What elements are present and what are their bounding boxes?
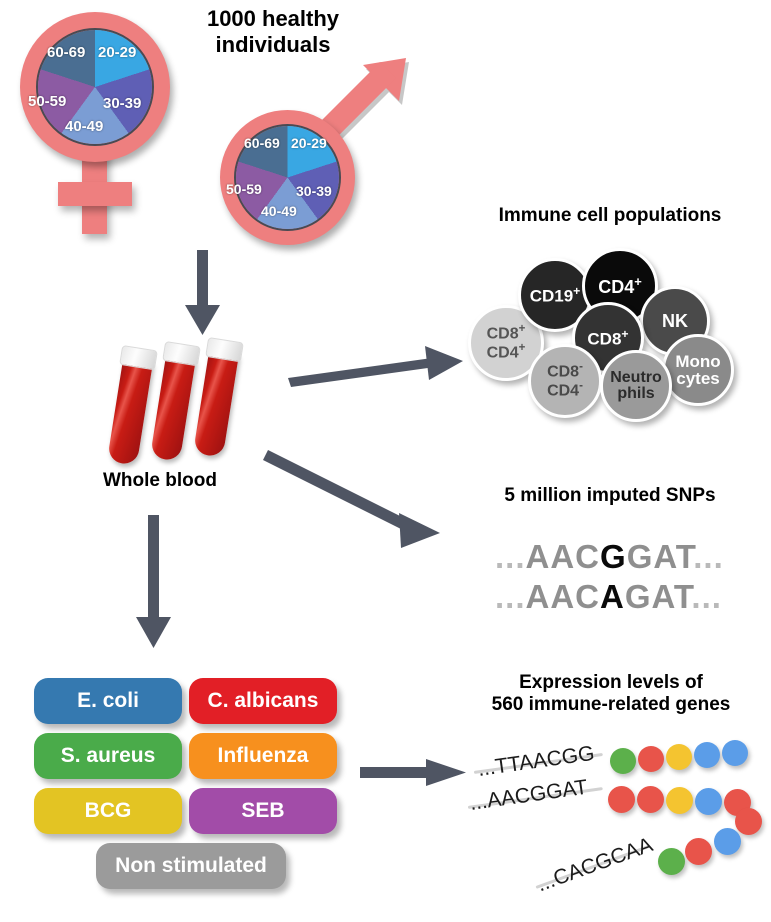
snp-right: GAT — [625, 578, 692, 615]
strand-bead — [666, 787, 693, 814]
pie-label-30-39: 30-39 — [296, 183, 332, 199]
stimulus-label: BCG — [85, 799, 132, 823]
strand-bead — [610, 748, 636, 774]
expression-title: Expression levels of 560 immune-related … — [455, 672, 767, 717]
stimulus-c-albicans[interactable]: C. albicans — [189, 678, 337, 724]
snp-left: AAC — [526, 578, 601, 615]
stimulus-label: S. aureus — [61, 744, 156, 768]
snp-right: GAT — [627, 538, 694, 575]
arrow-blood-to-stimuli — [130, 515, 180, 655]
cell-label: CD4+ — [598, 275, 642, 296]
stimulus-s-aureus[interactable]: S. aureus — [34, 733, 182, 779]
snp-variant: A — [600, 578, 625, 615]
cell-label: CD8+ CD4+ — [487, 324, 526, 361]
cell-label: NK — [662, 312, 688, 330]
snp-allele-row: ...AACAGAT... — [495, 578, 722, 616]
expression-title-line1: Expression levels of — [455, 672, 767, 694]
strand-sequence: ...AACGGAT — [468, 776, 589, 816]
blood-tube — [150, 353, 196, 461]
female-symbol-stem-cross — [58, 182, 132, 206]
whole-blood-tubes — [115, 345, 265, 465]
pie-label-60-69: 60-69 — [47, 44, 85, 61]
stimulus-seb[interactable]: SEB — [189, 788, 337, 834]
cell-label: CD8- CD4- — [547, 362, 583, 399]
blood-tube — [107, 357, 153, 465]
snp-suffix: ... — [691, 578, 722, 615]
whole-blood-label: Whole blood — [60, 470, 260, 492]
stimulus-label: SEB — [241, 799, 284, 823]
strand-bead — [658, 848, 685, 875]
arrow-cohort-to-blood — [180, 250, 230, 340]
immune-populations-title: Immune cell populations — [460, 205, 760, 227]
cell-label: Neutro phils — [610, 370, 662, 403]
blood-tube-cap — [119, 345, 158, 370]
snp-variant: G — [600, 538, 627, 575]
snp-prefix: ... — [495, 578, 526, 615]
cell-neutrophils: Neutro phils — [600, 350, 672, 422]
strand-sequence: ...CACGCAA — [534, 833, 656, 897]
figure-canvas: 1000 healthy individuals 20-29 30-39 40-… — [0, 0, 771, 922]
strand-bead — [608, 786, 635, 813]
expression-title-line2: 560 immune-related genes — [455, 694, 767, 716]
stimulus-e-coli[interactable]: E. coli — [34, 678, 182, 724]
pie-label-60-69: 60-69 — [244, 135, 280, 151]
stimulus-label: C. albicans — [208, 689, 319, 713]
male-symbol: 20-29 30-39 40-49 50-59 60-69 — [200, 50, 420, 250]
pie-label-40-49: 40-49 — [261, 203, 297, 219]
pie-label-50-59: 50-59 — [28, 93, 66, 110]
stimulus-influenza[interactable]: Influenza — [189, 733, 337, 779]
blood-tube-cap — [205, 337, 244, 362]
arrow-blood-to-immune — [288, 330, 478, 400]
cell-monocytes: Mono cytes — [662, 334, 734, 406]
immune-cell-cluster: CD8+ CD4+ CD19+ CD4+ NK CD8+ Mono c — [460, 240, 760, 420]
strand-bead — [714, 828, 741, 855]
arrow-blood-to-snp — [268, 450, 468, 560]
cell-label: Mono cytes — [675, 353, 720, 388]
stimuli-panel: E. coli C. albicans S. aureus Influenza … — [34, 678, 334, 898]
stimulus-label: Influenza — [217, 744, 308, 768]
pie-label-50-59: 50-59 — [226, 181, 262, 197]
stimulus-label: E. coli — [77, 689, 139, 713]
pie-label-40-49: 40-49 — [65, 118, 103, 135]
snp-suffix: ... — [693, 538, 724, 575]
stimulus-label: Non stimulated — [115, 854, 267, 878]
strand-bead — [735, 808, 762, 835]
strand-bead — [685, 838, 712, 865]
stimulus-bcg[interactable]: BCG — [34, 788, 182, 834]
snp-prefix: ... — [495, 538, 526, 575]
strand-bead — [722, 740, 748, 766]
stimulus-non-stimulated[interactable]: Non stimulated — [96, 843, 286, 889]
cell-label: CD19+ — [530, 285, 581, 305]
strand-bead — [694, 742, 720, 768]
cell-cd8neg-cd4neg: CD8- CD4- — [528, 344, 602, 418]
pie-label-20-29: 20-29 — [98, 44, 136, 61]
strand-bead — [666, 744, 692, 770]
strand-bead — [695, 788, 722, 815]
blood-tube-cap — [162, 341, 201, 366]
snp-allele-row: ...AACGGAT... — [495, 538, 724, 576]
pie-label-30-39: 30-39 — [103, 95, 141, 112]
cell-label: CD8+ — [587, 328, 628, 348]
strand-bead — [637, 786, 664, 813]
strand-bead — [638, 746, 664, 772]
blood-tube — [193, 349, 239, 457]
female-symbol: 20-29 30-39 40-49 50-59 60-69 — [10, 6, 190, 246]
pie-label-20-29: 20-29 — [291, 135, 327, 151]
snp-left: AAC — [526, 538, 601, 575]
expression-strand: ...CACGCAA — [530, 838, 770, 918]
snp-title: 5 million imputed SNPs — [460, 485, 760, 507]
page-title-line1: 1000 healthy — [178, 6, 368, 32]
